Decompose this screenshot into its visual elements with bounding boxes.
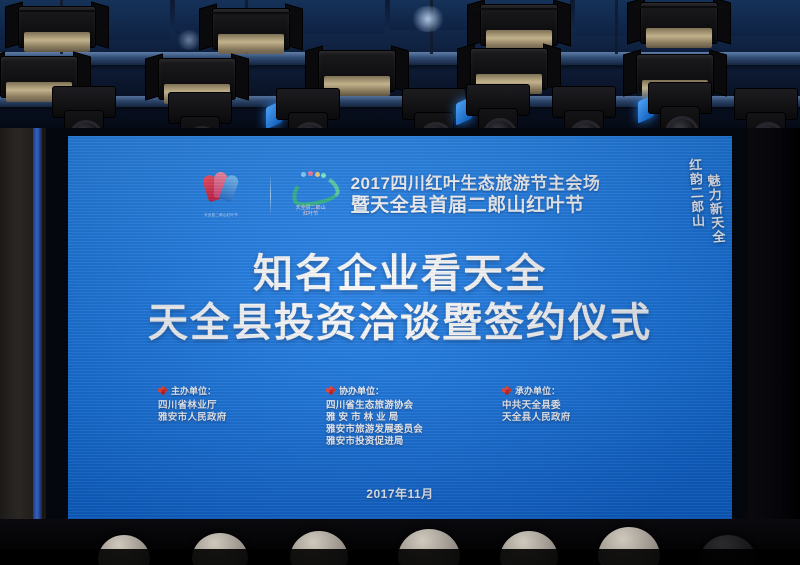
organizer-unit: 雅安市人民政府: [158, 412, 308, 424]
calligraphy-column-2: 魅力新天全: [704, 173, 725, 244]
organizer-role-label: 协办单位：: [339, 384, 384, 397]
organizer-role-label: 主办单位：: [171, 384, 216, 397]
led-screen: 天全县二郎山红叶节 天全县二郎山 红叶节: [68, 136, 732, 529]
organizer-role-undertaker: 承办单位：: [502, 384, 642, 397]
organizer-column-undertaker: 承办单位： 中共天全县委 天全县人民政府: [502, 384, 642, 424]
festival-emblem-caption: 天全县二郎山红叶节: [202, 212, 240, 217]
audience-front-row: [0, 519, 800, 565]
event-date: 2017年11月: [68, 485, 732, 502]
calligraphy-column-1: 红韵二郎山: [686, 158, 705, 245]
wall-light-strip: [33, 128, 42, 565]
organizer-role-label: 承办单位：: [515, 384, 560, 397]
main-title-line-2: 天全县投资洽谈暨签约仪式: [68, 298, 732, 348]
main-title-line-1: 知名企业看天全: [68, 250, 732, 298]
flower-bullet-icon: [502, 386, 511, 395]
vertical-calligraphy: 红韵二郎山 魅力新天全: [688, 158, 722, 244]
hall-wall-left: [0, 128, 46, 565]
hall-wall-right: [748, 128, 800, 565]
stage-photo: 天全县二郎山红叶节 天全县二郎山 红叶节: [0, 0, 800, 565]
flower-bullet-icon: [158, 386, 167, 395]
stage-light-parcan: [18, 6, 96, 62]
organizer-unit: 四川省生态旅游协会: [326, 400, 476, 412]
organizer-unit: 中共天全县委: [502, 400, 642, 412]
organizer-role-coorganizer: 协办单位：: [326, 384, 476, 397]
stage-light-parcan: [640, 2, 718, 58]
organizer-unit: 四川省林业厅: [158, 400, 308, 412]
organizer-unit: 雅 安 市 林 业 局: [326, 412, 476, 424]
organizer-unit: 天全县人民政府: [502, 412, 642, 424]
organizer-unit: 雅安市投资促进局: [326, 436, 476, 448]
organizer-column-host: 主办单位： 四川省林业厅 雅安市人民政府: [158, 384, 308, 424]
event-banner: 天全县二郎山红叶节 天全县二郎山 红叶节: [68, 162, 732, 228]
redleaf-festival-logo-icon: 天全县二郎山 红叶节: [285, 171, 337, 219]
organizer-column-coorganizer: 协办单位： 四川省生态旅游协会 雅 安 市 林 业 局 雅安市旅游发展委员会 雅…: [326, 384, 476, 448]
ceiling-lighting-rig: [0, 0, 800, 142]
banner-line-1: 2017四川红叶生态旅游节主会场: [351, 173, 601, 194]
stage-light-parcan: [212, 8, 290, 64]
festival-emblem-icon: 天全县二郎山红叶节: [200, 172, 242, 218]
flower-bullet-icon: [326, 386, 335, 395]
organizer-unit: 雅安市旅游发展委员会: [326, 424, 476, 436]
banner-line-2: 暨天全县首届二郎山红叶节: [351, 194, 601, 217]
redleaf-logo-caption-line2: 红叶节: [285, 211, 337, 217]
led-screen-frame: 天全县二郎山红叶节 天全县二郎山 红叶节: [46, 128, 748, 537]
main-title: 知名企业看天全 天全县投资洽谈暨签约仪式: [68, 250, 732, 348]
audience-shadow: [0, 549, 800, 565]
organizer-role-host: 主办单位：: [158, 384, 308, 397]
organizer-columns: 主办单位： 四川省林业厅 雅安市人民政府 协办单位： 四川省生态旅游协会 雅 安…: [68, 384, 732, 448]
banner-divider: [270, 174, 271, 216]
